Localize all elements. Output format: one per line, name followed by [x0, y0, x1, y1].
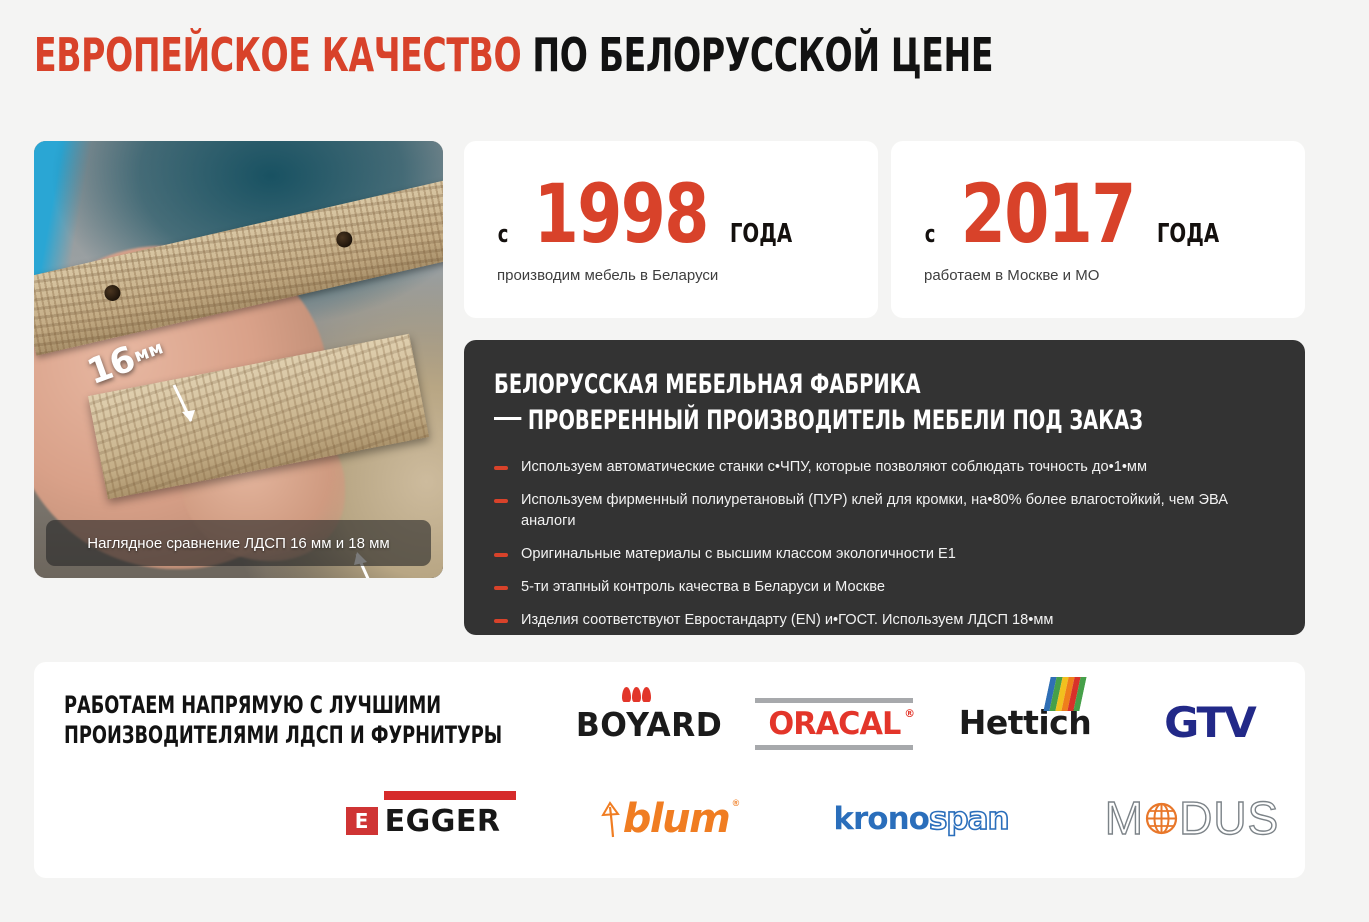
- page-title-rest: ПО БЕЛОРУССКОЙ ЦЕНЕ: [532, 28, 993, 82]
- logo-egger-text: EGGER: [385, 804, 501, 839]
- logo-oracal-text: ORACAL ®: [768, 706, 900, 742]
- list-item-label: 5-ти этапный контроль качества в Беларус…: [521, 577, 885, 598]
- stat-row: с 2017 ГОДА: [923, 175, 1229, 255]
- logo-krono-text: krono: [833, 801, 929, 837]
- stat-year: 2017: [961, 175, 1135, 255]
- dash-bullet-icon: [494, 619, 508, 623]
- em-dash-decoration: [494, 417, 521, 420]
- logo-span-text: span: [929, 801, 1009, 837]
- factory-info-panel: БЕЛОРУССКАЯ МЕБЕЛЬНАЯ ФАБРИКА ПРОВЕРЕННЫ…: [464, 340, 1305, 635]
- arrow-up-blum-icon: [599, 799, 625, 839]
- list-item: 5-ти этапный контроль качества в Беларус…: [494, 577, 1275, 598]
- dash-bullet-icon: [494, 499, 508, 503]
- list-item: Используем автоматические станки с•ЧПУ, …: [494, 457, 1275, 478]
- list-item: Оригинальные материалы с высшим классом …: [494, 544, 1275, 565]
- comparison-photo-card: 16мм 18мм Наглядное сравнение ЛДСП 16 мм…: [34, 141, 443, 578]
- list-item-label: Изделия соответствуют Евростандарту (EN)…: [521, 610, 1053, 631]
- logo-boyard: BOYARD: [556, 700, 742, 748]
- stat-row: с 1998 ГОДА: [496, 175, 802, 255]
- feature-list: Используем автоматические станки с•ЧПУ, …: [494, 457, 1275, 631]
- dash-bullet-icon: [494, 466, 508, 470]
- globe-icon: [1145, 802, 1178, 835]
- logo-modus: M DUS: [1098, 792, 1286, 844]
- egger-e-mark: E: [346, 807, 378, 835]
- logo-egger: E EGGER: [337, 798, 509, 844]
- stat-prefix: с: [925, 220, 936, 248]
- partners-card: РАБОТАЕМ НАПРЯМУЮ С ЛУЧШИМИ ПРОИЗВОДИТЕЛ…: [34, 662, 1305, 878]
- logo-kronospan: kronospan: [822, 798, 1020, 840]
- logo-modus-dus: DUS: [1179, 791, 1279, 845]
- label-16mm-unit: мм: [131, 337, 166, 367]
- list-item-label: Используем фирменный полиуретановый (ПУР…: [521, 490, 1266, 532]
- board-hole: [334, 230, 353, 249]
- list-item-label: Используем автоматические станки с•ЧПУ, …: [521, 457, 1147, 478]
- stat-subtitle: производим мебель в Беларуси: [497, 267, 718, 284]
- logo-modus-m: M: [1105, 791, 1144, 845]
- stat-suffix: ГОДА: [730, 219, 792, 249]
- partners-title: РАБОТАЕМ НАПРЯМУЮ С ЛУЧШИМИ ПРОИЗВОДИТЕЛ…: [64, 690, 502, 750]
- list-item: Используем фирменный полиуретановый (ПУР…: [494, 490, 1275, 532]
- logo-blum-text: blum: [623, 796, 730, 842]
- stat-prefix: с: [498, 220, 509, 248]
- list-item-label: Оригинальные материалы с высшим классом …: [521, 544, 956, 565]
- panel-title-line2: ПРОВЕРЕННЫЙ ПРОИЗВОДИТЕЛЬ МЕБЕЛИ ПОД ЗАК…: [494, 404, 1056, 437]
- stat-suffix: ГОДА: [1157, 219, 1219, 249]
- list-item: Изделия соответствуют Евростандарту (EN)…: [494, 610, 1275, 631]
- dash-bullet-icon: [494, 586, 508, 590]
- logo-oracal: ORACAL ®: [754, 698, 914, 750]
- registered-icon: ®: [904, 707, 914, 720]
- board-hole: [102, 284, 121, 303]
- photo-caption: Наглядное сравнение ЛДСП 16 мм и 18 мм: [46, 520, 431, 566]
- stat-year: 1998: [534, 175, 708, 255]
- logo-blum: blum ®: [592, 795, 736, 843]
- oracal-bar-bottom: [755, 745, 913, 750]
- rainbow-stripes-icon: [1044, 677, 1087, 711]
- stat-card-1998: с 1998 ГОДА производим мебель в Беларуси: [464, 141, 878, 318]
- stat-subtitle: работаем в Москве и МО: [924, 267, 1099, 284]
- stat-card-2017: с 2017 ГОДА работаем в Москве и МО: [891, 141, 1305, 318]
- logo-gtv: GTV: [1143, 700, 1275, 744]
- flame-icon: [622, 687, 651, 702]
- egger-bar-icon: [384, 791, 516, 800]
- page-title: ЕВРОПЕЙСКОЕ КАЧЕСТВО ПО БЕЛОРУССКОЙ ЦЕНЕ: [34, 26, 970, 86]
- logo-boyard-text: BOYARD: [576, 705, 722, 744]
- logo-oracal-name: ORACAL: [768, 706, 900, 742]
- promo-page: ЕВРОПЕЙСКОЕ КАЧЕСТВО ПО БЕЛОРУССКОЙ ЦЕНЕ…: [0, 0, 1369, 922]
- panel-title-line2-text: ПРОВЕРЕННЫЙ ПРОИЗВОДИТЕЛЬ МЕБЕЛИ ПОД ЗАК…: [528, 405, 1143, 436]
- registered-icon: ®: [733, 798, 740, 808]
- page-title-accent: ЕВРОПЕЙСКОЕ КАЧЕСТВО: [34, 28, 521, 82]
- partners-title-line2: ПРОИЗВОДИТЕЛЯМИ ЛДСП И ФУРНИТУРЫ: [64, 720, 502, 750]
- dash-bullet-icon: [494, 553, 508, 557]
- oracal-bar-top: [755, 698, 913, 703]
- partners-title-line1: РАБОТАЕМ НАПРЯМУЮ С ЛУЧШИМИ: [64, 690, 502, 720]
- logo-gtv-text: GTV: [1164, 698, 1255, 747]
- logo-hettich: Hettich: [968, 692, 1082, 752]
- panel-title-line1: БЕЛОРУССКАЯ МЕБЕЛЬНАЯ ФАБРИКА: [494, 368, 1056, 401]
